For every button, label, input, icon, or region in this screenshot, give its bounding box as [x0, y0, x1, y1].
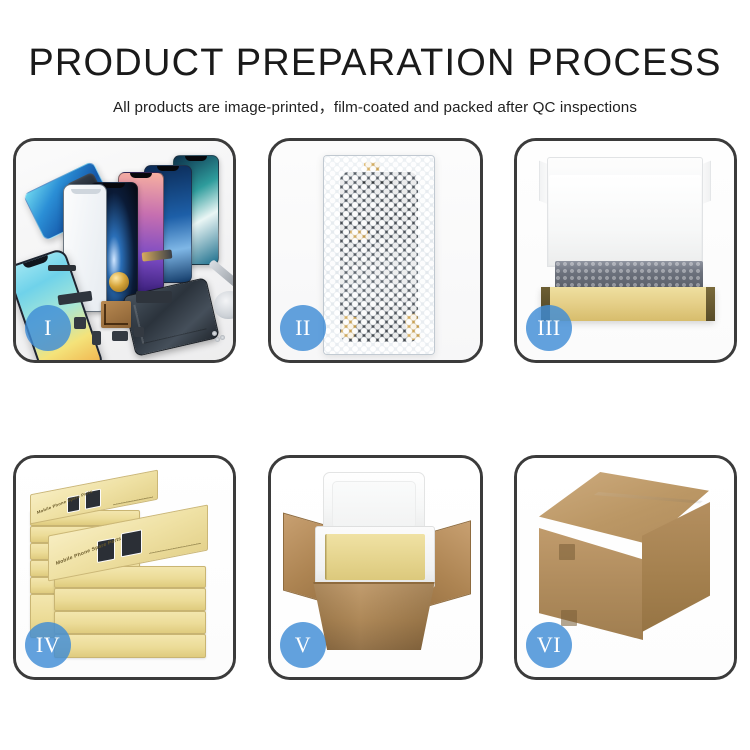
step-badge-1: I [25, 305, 71, 351]
step-badge-4: IV [25, 622, 71, 668]
bubble-texture-layer-2 [324, 156, 434, 354]
ic-chip-part [101, 301, 131, 328]
step-panel-6[interactable]: VI [514, 455, 737, 680]
step-panel-3[interactable]: III [514, 138, 737, 363]
repair-tool-icon [214, 291, 233, 319]
carton-tape-upper [559, 544, 575, 560]
tweezers-icon [208, 259, 233, 291]
notch-icon [157, 166, 179, 171]
step-panel-4[interactable]: Mobile Phone Spare Parts Mobile Phone Sp… [13, 455, 236, 680]
stacked-box [54, 634, 206, 658]
vibrator-part [112, 331, 128, 341]
step-panel-1[interactable]: I [13, 138, 236, 363]
white-foam-sheet [549, 175, 701, 265]
screw-icon [215, 337, 220, 342]
sensor-part [134, 327, 144, 337]
bubble-wrap-bag [323, 155, 435, 355]
notch-icon [130, 173, 152, 178]
screw-icon [212, 331, 217, 336]
notch-icon [185, 156, 207, 161]
step-panel-5[interactable]: V [268, 455, 483, 680]
notch-icon [103, 183, 125, 188]
screws-group [212, 331, 230, 341]
box-print-thumbnail [121, 529, 142, 557]
stacked-box [54, 611, 206, 634]
process-step-grid: I II [0, 0, 750, 750]
stacked-box [54, 588, 206, 611]
yellow-boxes-inside [325, 534, 425, 580]
step-panel-2[interactable]: II [268, 138, 483, 363]
box-print-textlines [113, 476, 153, 506]
screw-icon [220, 335, 225, 340]
bubble-wrapped-items [555, 261, 703, 289]
speaker-part-icon [109, 272, 129, 292]
carton-body [305, 582, 443, 650]
infographic-root: PRODUCT PREPARATION PROCESS All products… [0, 0, 750, 750]
step-badge-3: III [526, 305, 572, 351]
carton-tape-lower [561, 610, 577, 626]
camera-module-part [74, 317, 86, 329]
step-badge-5: V [280, 622, 326, 668]
battery-connector-part [48, 265, 76, 271]
box-print-textlines [149, 514, 201, 554]
step-badge-2: II [280, 305, 326, 351]
sim-tray-part [92, 331, 101, 345]
step-badge-6: VI [526, 622, 572, 668]
flex-cable-part-2 [136, 291, 172, 303]
